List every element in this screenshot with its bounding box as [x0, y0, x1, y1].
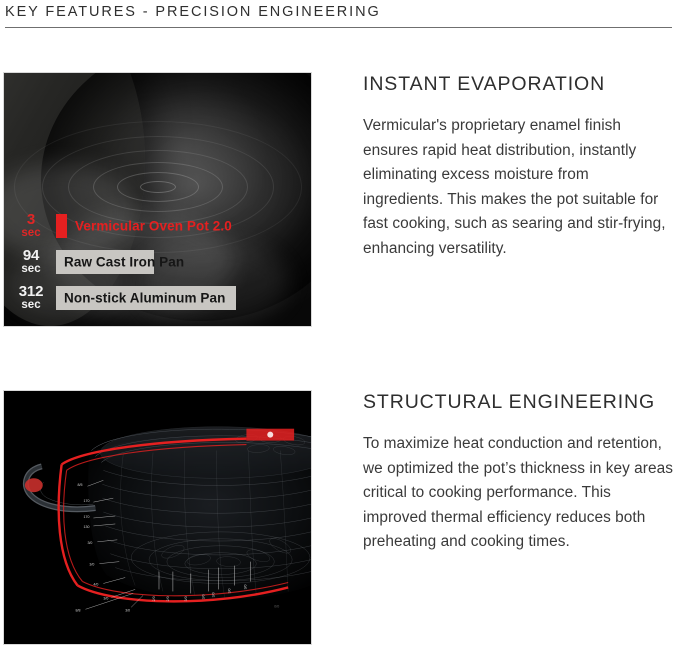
svg-text:4/0: 4/0 — [93, 582, 98, 586]
svg-text:8/8: 8/8 — [76, 608, 81, 612]
svg-text:3/0: 3/0 — [202, 594, 206, 599]
feature-copy: INSTANT EVAPORATION Vermicular's proprie… — [363, 72, 673, 261]
chart-value-number: 312 — [12, 284, 50, 299]
svg-text:3/0: 3/0 — [125, 608, 130, 612]
page-header: KEY FEATURES - PRECISION ENGINEERING — [5, 0, 673, 28]
cad-watermark: 0/0 — [274, 604, 279, 608]
svg-text:8/5: 8/5 — [78, 483, 83, 487]
steaming-pot-photo: 3 sec Vermicular Oven Pot 2.0 94 sec — [4, 73, 311, 326]
chart-row: 312 sec Non-stick Aluminum Pan — [12, 280, 312, 316]
chart-bar-label: Non-stick Aluminum Pan — [64, 291, 225, 306]
chart-bar-vermicular — [56, 214, 67, 238]
svg-text:3/0: 3/0 — [89, 563, 94, 567]
evaporation-bar-chart: 3 sec Vermicular Oven Pot 2.0 94 sec — [12, 208, 312, 316]
page-title: KEY FEATURES - PRECISION ENGINEERING — [5, 0, 673, 22]
chart-bar-wrap: Non-stick Aluminum Pan — [56, 286, 312, 310]
chart-bar-wrap: Vermicular Oven Pot 2.0 — [56, 214, 312, 238]
feature-page: KEY FEATURES - PRECISION ENGINEERING — [0, 0, 679, 653]
chart-value-number: 3 — [12, 212, 50, 227]
feature-title: INSTANT EVAPORATION — [363, 72, 673, 96]
svg-text:3/0: 3/0 — [212, 592, 216, 597]
handle-highlight — [25, 478, 43, 492]
svg-text:2/0: 2/0 — [166, 596, 170, 601]
svg-text:170: 170 — [83, 515, 89, 519]
chart-bar-label: Raw Cast Iron Pan — [64, 255, 184, 270]
chart-value: 3 sec — [12, 212, 50, 240]
header-divider — [5, 27, 672, 28]
svg-text:170: 170 — [83, 499, 89, 503]
cad-wireframe-svg: 8/5 170 170 130 3/0 3/0 4/0 3/0 8/8 3/0 — [4, 391, 311, 644]
svg-text:2/0: 2/0 — [152, 596, 156, 601]
feature-body: To maximize heat conduction and retentio… — [363, 432, 673, 555]
svg-text:3/0: 3/0 — [103, 596, 108, 600]
chart-row: 3 sec Vermicular Oven Pot 2.0 — [12, 208, 312, 244]
chart-value-number: 94 — [12, 248, 50, 263]
wireframe-cad-pot-diagram: 8/5 170 170 130 3/0 3/0 4/0 3/0 8/8 3/0 — [4, 391, 311, 644]
svg-text:3/0: 3/0 — [243, 584, 247, 589]
feature-image-wireframe-pot: 8/5 170 170 130 3/0 3/0 4/0 3/0 8/8 3/0 — [3, 390, 312, 645]
svg-text:130: 130 — [83, 525, 89, 529]
chart-bar-wrap: Raw Cast Iron Pan — [56, 250, 312, 274]
chart-value-unit: sec — [12, 264, 50, 276]
svg-text:3/0: 3/0 — [228, 588, 232, 593]
feature-image-steaming-pot: 3 sec Vermicular Oven Pot 2.0 94 sec — [3, 72, 312, 327]
chart-value-unit: sec — [12, 300, 50, 312]
chart-row: 94 sec Raw Cast Iron Pan — [12, 244, 312, 280]
feature-title: STRUCTURAL ENGINEERING — [363, 390, 673, 414]
chart-value-unit: sec — [12, 228, 50, 240]
svg-text:3/0: 3/0 — [184, 596, 188, 601]
feature-body: Vermicular's proprietary enamel finish e… — [363, 114, 673, 261]
chart-value: 312 sec — [12, 284, 50, 312]
feature-copy: STRUCTURAL ENGINEERING To maximize heat … — [363, 390, 673, 555]
knob-dot — [267, 432, 273, 438]
chart-bar-label: Vermicular Oven Pot 2.0 — [75, 219, 232, 234]
chart-value: 94 sec — [12, 248, 50, 276]
svg-text:3/0: 3/0 — [87, 541, 92, 545]
